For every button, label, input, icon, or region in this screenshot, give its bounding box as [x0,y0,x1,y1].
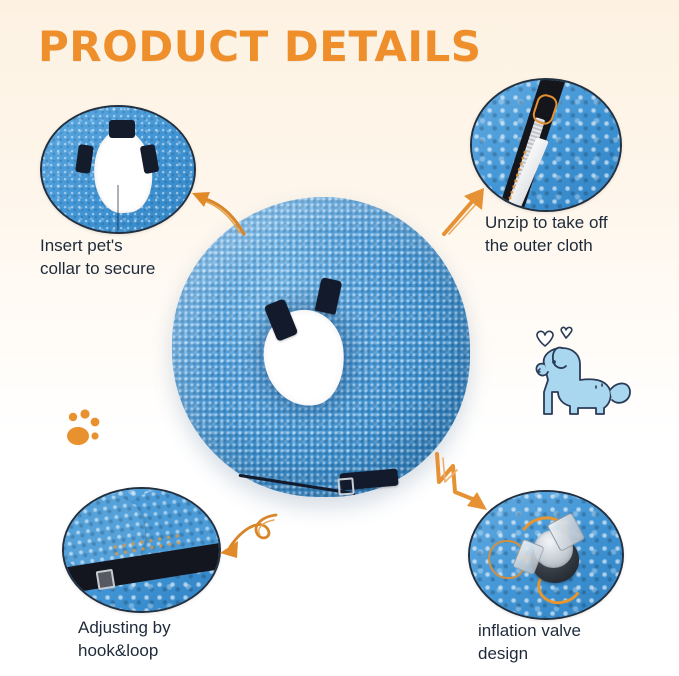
paw-icon [62,408,106,455]
callout-caption-unzip-cloth: Unzip to take off the outer cloth [485,212,608,258]
page-title: PRODUCT DETAILS [38,22,481,71]
product-details-infographic: PRODUCT DETAILS Insert pet's collar to s… [0,0,679,676]
arrow-top-left-icon [188,186,248,243]
dog-icon [518,318,638,431]
arrow-bottom-right-icon [423,452,495,525]
arrow-bottom-left-icon [216,513,282,578]
callout-caption-insert-collar: Insert pet's collar to secure [40,235,155,281]
callout-caption-hook-loop: Adjusting by hook&loop [78,617,171,663]
arrow-top-right-icon [436,184,494,243]
callout-caption-inflation-valve: inflation valve design [478,620,581,666]
